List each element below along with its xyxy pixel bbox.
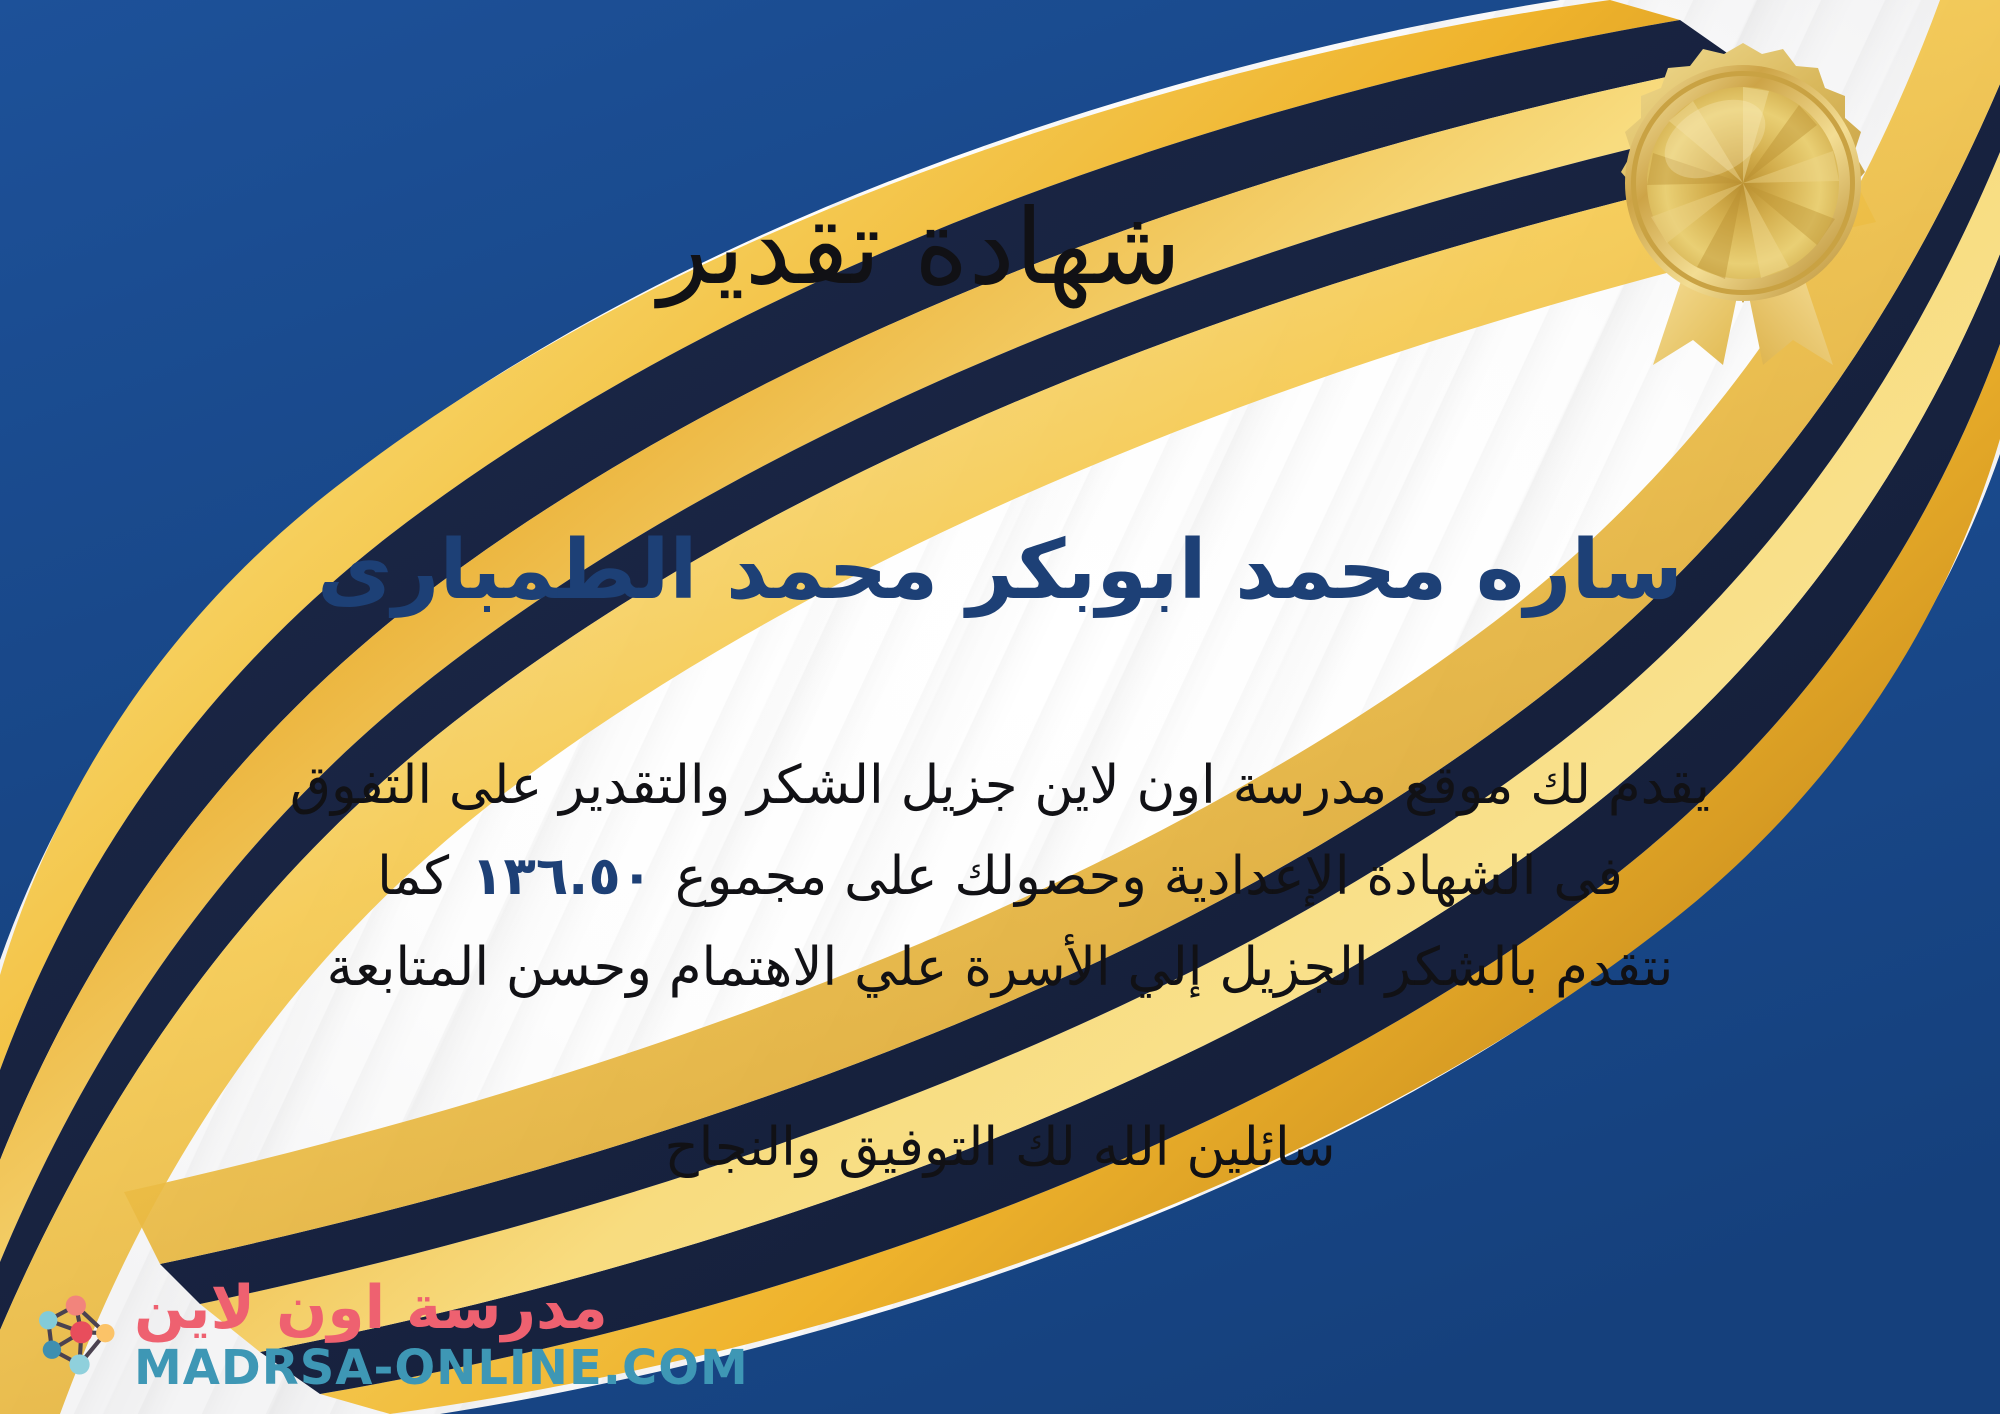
body-line-3: نتقدم بالشكر الجزيل إلي الأسرة علي الاهت… [60, 922, 1940, 1013]
certificate-page: شهادة تقدير ساره محمد ابوبكر محمد الطمبا… [0, 0, 2000, 1414]
gold-award-seal-icon [1593, 35, 1893, 365]
score-value: ١٣٦.٥٠ [449, 831, 675, 922]
brand-arabic-name: مدرسة اون لاين [134, 1278, 608, 1338]
body-line-2: فى الشهادة الإعدادية وحصولك على مجموع١٣٦… [60, 831, 1940, 922]
brand-text: مدرسة اون لاين MADRSA-ONLINE.COM [134, 1278, 749, 1392]
body-line-1: يقدم لك موقع مدرسة اون لاين جزيل الشكر و… [60, 740, 1940, 831]
brand-logo[interactable]: مدرسة اون لاين MADRSA-ONLINE.COM [28, 1278, 749, 1392]
closing-line: سائلين الله لك التوفيق والنجاح [0, 1108, 2000, 1188]
network-nodes-icon [28, 1289, 120, 1381]
brand-website: MADRSA-ONLINE.COM [134, 1344, 749, 1392]
body-line-2-prefix: فى الشهادة الإعدادية وحصولك على مجموع [675, 846, 1623, 907]
body-line-2-suffix: كما [377, 846, 449, 907]
certificate-body: يقدم لك موقع مدرسة اون لاين جزيل الشكر و… [0, 740, 2000, 1013]
recipient-name: ساره محمد ابوبكر محمد الطمبارى [0, 520, 2000, 623]
